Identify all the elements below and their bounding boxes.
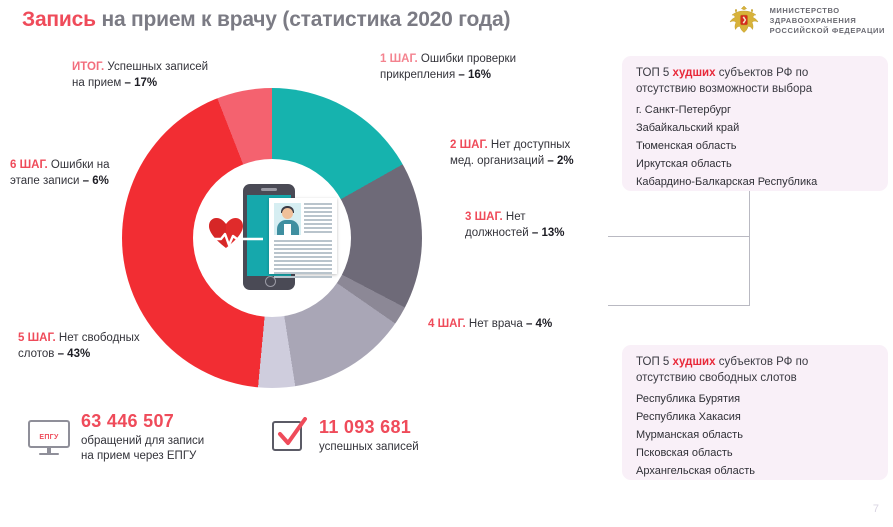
callout-result-value: – 17% [125,77,158,89]
panel-no-slots-title-line2: отсутствию свободных слотов [636,372,797,384]
callout-step6-step: 6 ШАГ. [10,159,48,171]
panel-no-choice-title: ТОП 5 худших субъектов РФ по отсутствию … [636,66,874,97]
list-item: Иркутская область [636,156,874,174]
callout-step2: 2 ШАГ. Нет доступных мед. организаций – … [450,138,635,170]
callout-step3-text: Нет [503,211,526,223]
doctor-avatar [274,203,301,235]
callout-result-step: ИТОГ. [72,61,104,73]
list-item: Республика Бурятия [636,391,874,409]
callout-step4: 4 ШАГ. Нет врача – 4% [428,317,628,333]
callout-step4-value: – 4% [526,318,552,330]
stat-epgu-sub-line2: на прием через ЕПГУ [81,450,196,462]
callout-step6: 6 ШАГ. Ошибки на этапе записи – 6% [10,158,170,190]
callout-result-text: Успешных записей [104,61,208,73]
stat-epgu-requests: ЕПГУ 63 446 507 обращений для записи на … [28,412,204,464]
connector-line-step4-vertical [749,236,750,306]
avatar-face [282,208,293,219]
list-item: Республика Хакасия [636,409,874,427]
page-title-rest: на прием к врачу (статистика 2020 года) [96,8,510,31]
callout-step2-text2: мед. организаций [450,155,547,167]
ministry-logo: МИНИСТЕРСТВО ЗДРАВООХРАНЕНИЯ РОССИЙСКОЙ … [725,2,885,40]
stat-epgu-subtitle: обращений для записи на прием через ЕПГУ [81,434,204,464]
stat-epgu-sub-line1: обращений для записи [81,435,204,447]
logo-line-3: РОССИЙСКОЙ ФЕДЕРАЦИИ [770,26,885,36]
stat-bookings-subtitle: успешных записей [319,440,419,455]
document-text-right [304,203,332,235]
callout-result-text2: на прием [72,77,125,89]
callout-step1-text: Ошибки проверки [418,53,516,65]
panel-no-choice-title-post: субъектов РФ по [716,67,809,79]
callout-step6-text: Ошибки на [48,159,110,171]
list-item: Архангельская область [636,463,874,481]
panel-no-choice-title-line2: отсутствию возможности выбора [636,83,812,95]
callout-step4-text: Нет врача [466,318,526,330]
stat-epgu-text: 63 446 507 обращений для записи на прием… [81,412,204,464]
callout-step5: 5 ШАГ. Нет свободных слотов – 43% [18,331,198,363]
medical-record-document-icon [269,198,337,274]
stat-bookings-text: 11 093 681 успешных записей [319,418,419,455]
slide-canvas: Запись на прием к врачу (статистика 2020… [0,0,893,527]
russian-coat-of-arms-eagle-icon [725,2,763,40]
callout-step1-text2: прикрепления [380,69,458,81]
page-title: Запись на прием к врачу (статистика 2020… [22,8,510,32]
list-item: Мурманская область [636,427,874,445]
panel-no-slots-title-highlight: худших [673,356,716,368]
panel-no-choice: ТОП 5 худших субъектов РФ по отсутствию … [622,56,888,191]
panel-no-slots-title-pre: ТОП 5 [636,356,673,368]
list-item: Тюменская область [636,138,874,156]
avatar-collar [284,224,291,235]
logo-line-1: МИНИСТЕРСТВО [770,6,885,16]
monitor-icon: ЕПГУ [28,420,70,456]
callout-step6-value: – 6% [83,175,109,187]
callout-step1-value: – 16% [458,69,491,81]
checkbox-checked-icon [272,419,308,453]
ministry-logo-text: МИНИСТЕРСТВО ЗДРАВООХРАНЕНИЯ РОССИЙСКОЙ … [770,6,885,36]
callout-step2-value: – 2% [547,155,573,167]
panel-no-choice-title-pre: ТОП 5 [636,67,673,79]
list-item: г. Санкт-Петербург [636,102,874,120]
pulse-line-icon [207,232,263,246]
callout-step6-text2: этапе записи [10,175,83,187]
page-number: 7 [873,503,879,515]
connector-line-step3 [608,236,750,237]
callout-step4-step: 4 ШАГ. [428,318,466,330]
callout-step1-step: 1 ШАГ. [380,53,418,65]
list-item: Кабардино-Балкарская Республика [636,174,874,192]
stat-epgu-number: 63 446 507 [81,412,204,432]
phone-speaker [261,188,277,191]
list-item: Забайкальский край [636,120,874,138]
callout-step2-text: Нет доступных [488,139,571,151]
panel-no-choice-list: г. Санкт-Петербург Забайкальский край Тю… [636,102,874,191]
stat-successful-bookings: 11 093 681 успешных записей [272,418,419,455]
callout-step3-text2: должностей [465,227,532,239]
page-title-accent: Запись [22,8,96,31]
stat-bookings-number: 11 093 681 [319,418,419,438]
callout-step1: 1 ШАГ. Ошибки проверки прикрепления – 16… [380,52,580,84]
callout-step5-text2: слотов [18,348,58,360]
callout-step2-step: 2 ШАГ. [450,139,488,151]
panel-no-slots: ТОП 5 худших субъектов РФ по отсутствию … [622,345,888,480]
callout-step5-value: – 43% [58,348,91,360]
document-text-bottom [274,240,332,280]
center-illustration [199,172,349,302]
panel-no-slots-title: ТОП 5 худших субъектов РФ по отсутствию … [636,355,874,386]
panel-no-slots-list: Республика Бурятия Республика Хакасия Му… [636,391,874,480]
list-item: Псковская область [636,445,874,463]
callout-step5-text: Нет свободных [56,332,140,344]
connector-line-step4 [608,305,750,306]
callout-step3-value: – 13% [532,227,565,239]
logo-line-2: ЗДРАВООХРАНЕНИЯ [770,16,885,26]
panel-no-slots-title-post: субъектов РФ по [716,356,809,368]
callout-result: ИТОГ. Успешных записей на прием – 17% [72,60,272,92]
panel-no-choice-title-highlight: худших [673,67,716,79]
callout-step5-step: 5 ШАГ. [18,332,56,344]
callout-step3-step: 3 ШАГ. [465,211,503,223]
